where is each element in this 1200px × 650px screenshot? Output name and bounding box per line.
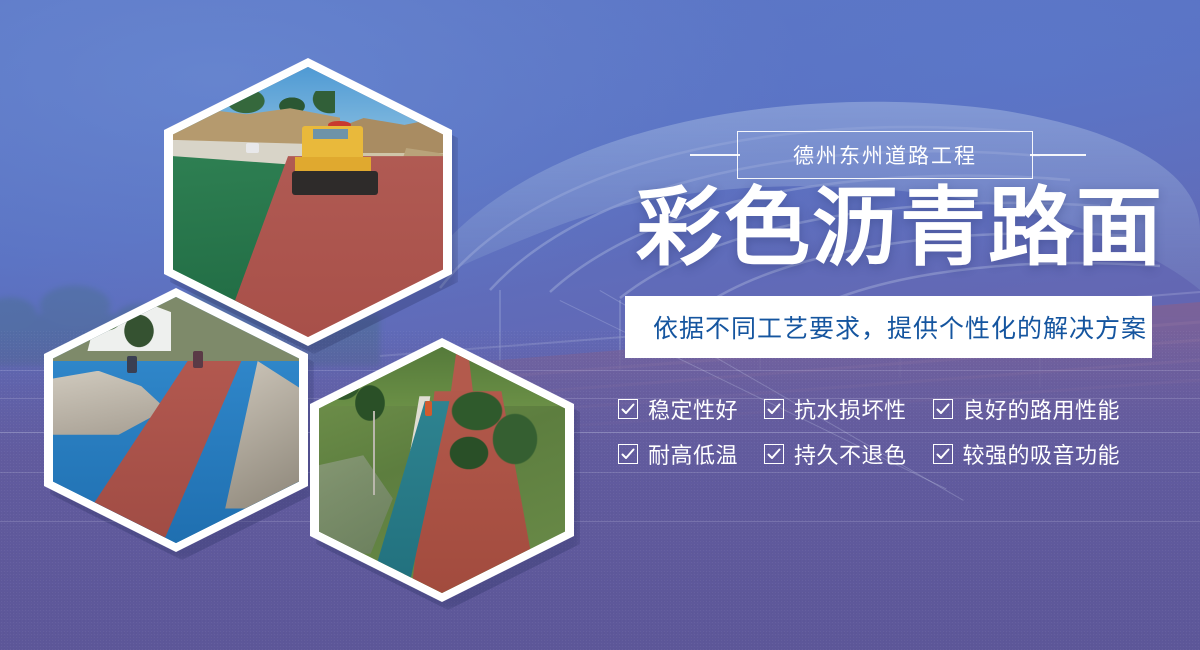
feature-label: 耐高低温 — [648, 438, 738, 470]
feature-list: 稳定性好 抗水损坏性 良好的路用性能 耐高低 — [618, 393, 1178, 483]
promo-banner: 德州东州道路工程 彩色沥青路面 依据不同工艺要求，提供个性化的解决方案 稳定性好… — [0, 0, 1200, 650]
hex-photo-red-blue-path-image — [53, 297, 299, 543]
eyebrow-frame: 德州东州道路工程 — [690, 131, 1086, 179]
feature-label: 抗水损坏性 — [794, 393, 907, 425]
feature-label: 持久不退色 — [794, 438, 907, 470]
hex-photo-greenway-image — [319, 347, 565, 593]
check-icon — [618, 444, 638, 464]
subtitle-text: 依据不同工艺要求，提供个性化的解决方案 — [625, 309, 1147, 345]
feature-item-temperature[interactable]: 耐高低温 — [618, 438, 738, 470]
eyebrow-rule-right — [1030, 154, 1086, 156]
check-icon — [933, 444, 953, 464]
subtitle-box: 依据不同工艺要求，提供个性化的解决方案 — [625, 296, 1152, 358]
feature-item-colorfast[interactable]: 持久不退色 — [764, 438, 907, 470]
feature-row: 稳定性好 抗水损坏性 良好的路用性能 — [618, 393, 1178, 425]
feature-item-road-performance[interactable]: 良好的路用性能 — [933, 393, 1121, 425]
eyebrow-text: 德州东州道路工程 — [737, 131, 1033, 179]
feature-row: 耐高低温 持久不退色 较强的吸音功能 — [618, 438, 1178, 470]
check-icon — [764, 399, 784, 419]
feature-label: 稳定性好 — [648, 393, 738, 425]
feature-item-stability[interactable]: 稳定性好 — [618, 393, 738, 425]
eyebrow-rule-left — [690, 154, 740, 156]
check-icon — [933, 399, 953, 419]
check-icon — [618, 399, 638, 419]
feature-label: 较强的吸音功能 — [963, 438, 1121, 470]
hex-photo-roller-image — [173, 67, 443, 337]
feature-label: 良好的路用性能 — [963, 393, 1121, 425]
check-icon — [764, 444, 784, 464]
feature-item-water-resistance[interactable]: 抗水损坏性 — [764, 393, 907, 425]
page-title: 彩色沥青路面 — [636, 183, 1164, 273]
feature-item-sound-absorption[interactable]: 较强的吸音功能 — [933, 438, 1121, 470]
